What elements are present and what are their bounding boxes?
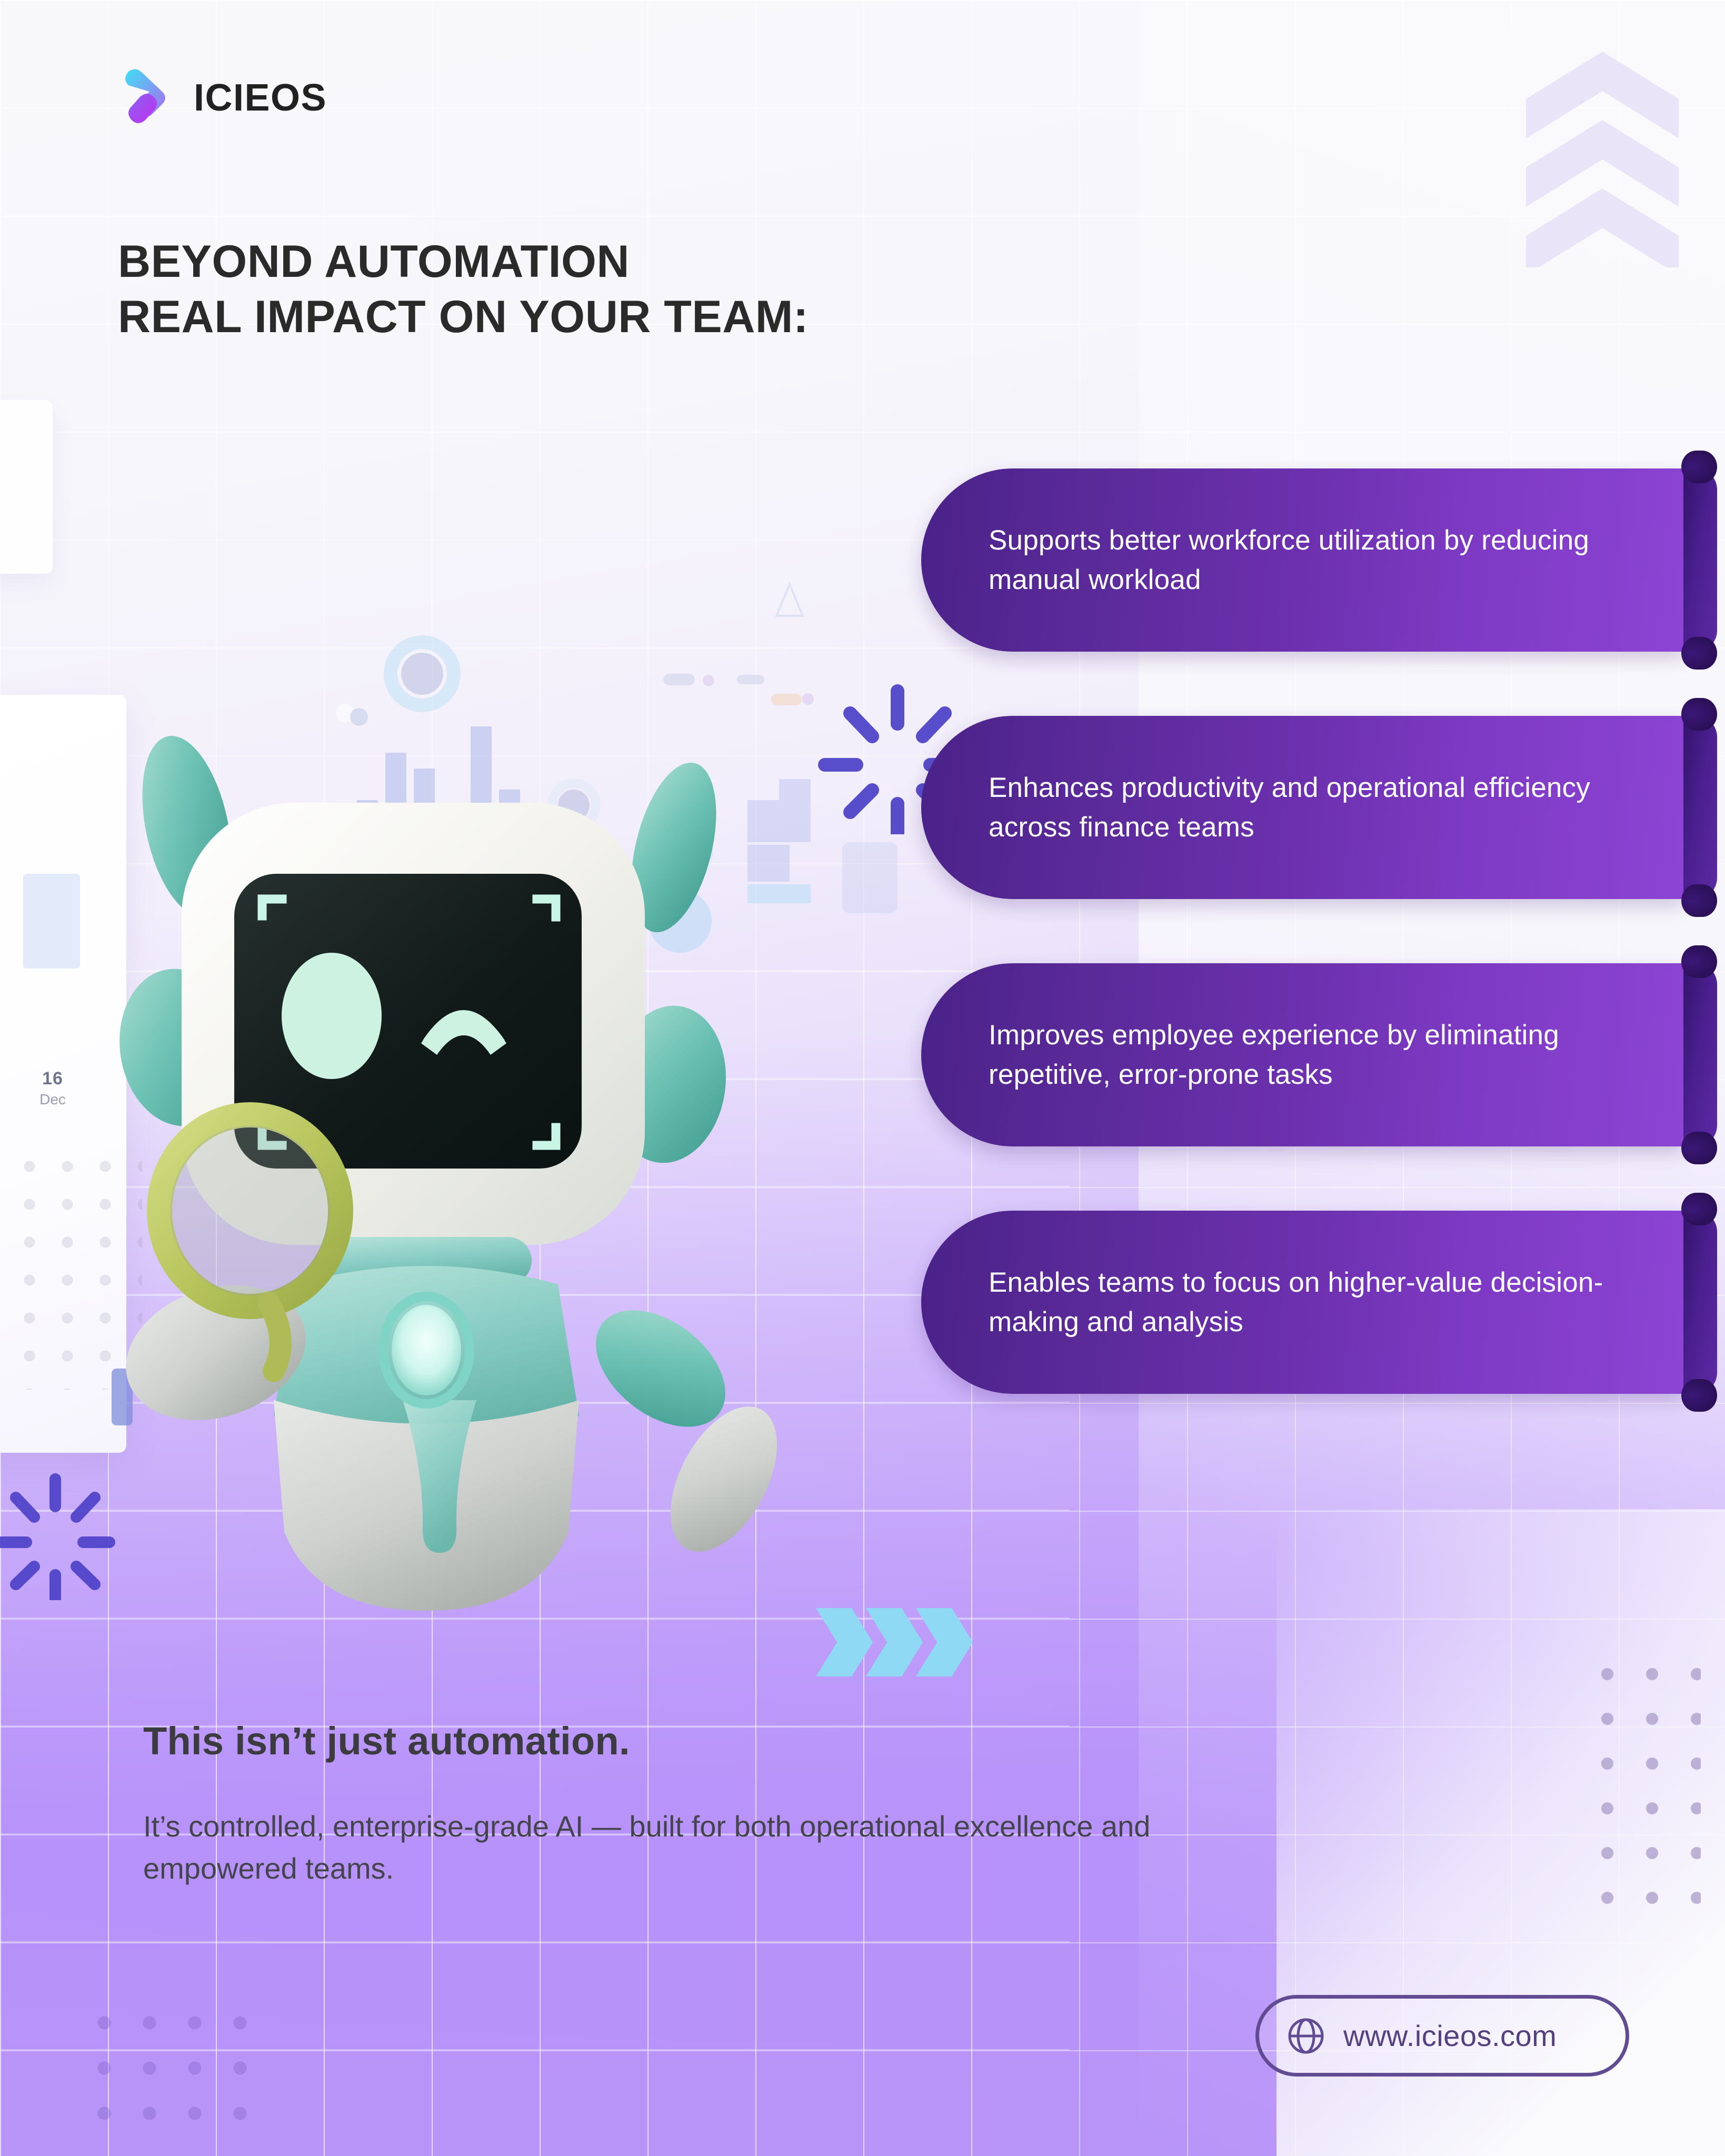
- card-ribbon-curl-3: [1683, 963, 1717, 1146]
- panel-bar-graphic: [23, 874, 80, 969]
- benefit-card-2[interactable]: Enhances productivity and operational ef…: [921, 716, 1684, 899]
- page-title: BEYOND AUTOMATION REAL IMPACT ON YOUR TE…: [118, 234, 809, 345]
- chevron-gradient-logo-icon: [122, 68, 175, 127]
- benefit-card-1-text: Supports better workforce utilization by…: [989, 521, 1648, 600]
- globe-icon: [1287, 2017, 1325, 2055]
- brand-logo[interactable]: ICIEOS: [122, 68, 327, 127]
- panel-date-block: 16 Dec: [21, 1069, 84, 1108]
- footer-tagline: This isn’t just automation.: [143, 1719, 630, 1763]
- dot-grid-bottom-left-icon: [82, 2000, 263, 2132]
- benefit-card-4-text: Enables teams to focus on higher-value d…: [989, 1263, 1648, 1342]
- headline-line-1: BEYOND AUTOMATION: [118, 234, 809, 290]
- benefit-card-3-text: Improves employee experience by eliminat…: [989, 1015, 1648, 1095]
- poster-canvas: 16 Dec: [0, 0, 1725, 2156]
- chevron-right-triple-icon: [811, 1595, 984, 1690]
- brand-name: ICIEOS: [194, 76, 327, 119]
- website-url: www.icieos.com: [1343, 2019, 1557, 2053]
- card-ribbon-curl-1: [1683, 468, 1717, 652]
- panel-date-month: Dec: [21, 1091, 84, 1108]
- dot-grid-right-icon: [1585, 1652, 1701, 1925]
- benefit-card-4[interactable]: Enables teams to focus on higher-value d…: [921, 1211, 1684, 1394]
- website-badge[interactable]: www.icieos.com: [1255, 1995, 1629, 2077]
- headline-line-2: REAL IMPACT ON YOUR TEAM:: [118, 290, 809, 345]
- panel-date-number: 16: [21, 1069, 84, 1089]
- benefit-card-2-text: Enhances productivity and operational ef…: [989, 768, 1648, 847]
- decorative-card-top-left: [0, 400, 53, 574]
- footer-subcopy: It’s controlled, enterprise-grade AI — b…: [143, 1805, 1249, 1889]
- card-ribbon-curl-2: [1683, 716, 1717, 899]
- benefit-card-list: Supports better workforce utilization by…: [921, 468, 1725, 1516]
- card-ribbon-curl-4: [1683, 1211, 1717, 1394]
- benefit-card-3[interactable]: Improves employee experience by eliminat…: [921, 963, 1684, 1146]
- robot-mascot-with-magnifier-icon: [95, 700, 858, 1648]
- chevron-up-stack-icon: [1526, 46, 1679, 267]
- benefit-card-1[interactable]: Supports better workforce utilization by…: [921, 468, 1684, 652]
